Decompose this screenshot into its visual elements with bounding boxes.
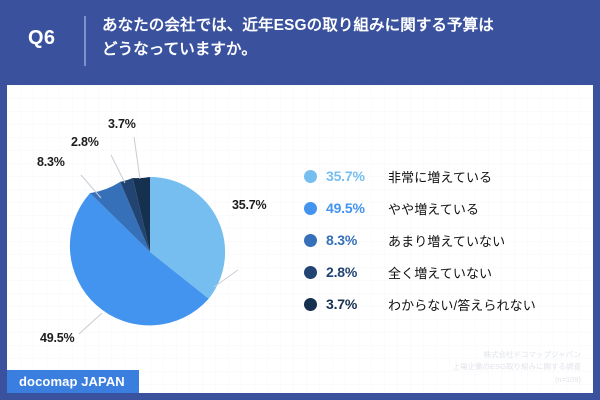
legend-item-4: 2.8% 全く増えていない <box>304 256 589 288</box>
leader-line-2 <box>79 313 102 334</box>
legend-dot-icon <box>304 170 317 183</box>
legend-item-3: 8.3% あまり増えていない <box>304 224 589 256</box>
legend-label: わからない/答えられない <box>388 295 536 314</box>
chart-card: 35.7% 49.5% 8.3% 2.8% 3.7% 35.7% 非常に増えてい… <box>7 85 593 393</box>
legend-percent: 49.5% <box>326 200 388 216</box>
page-title: あなたの会社では、近年ESGの取り組みに関する予算は どうなっていますか。 <box>86 14 586 62</box>
pie-chart-svg <box>7 85 307 393</box>
legend-percent: 8.3% <box>326 232 388 248</box>
pie-value-label-1: 35.7% <box>232 198 266 212</box>
legend-item-1: 35.7% 非常に増えている <box>304 160 589 192</box>
legend-label: あまり増えていない <box>388 231 505 250</box>
legend-item-5: 3.7% わからない/答えられない <box>304 288 589 320</box>
logo-label: docomap JAPAN <box>19 374 125 389</box>
docomap-logo: docomap JAPAN <box>7 370 139 393</box>
legend-label: 非常に増えている <box>388 167 492 186</box>
pie-value-label-3: 8.3% <box>37 155 65 169</box>
pie-value-label-4: 2.8% <box>71 135 99 149</box>
legend-percent: 35.7% <box>326 168 388 184</box>
legend-dot-icon <box>304 234 317 247</box>
slide-header: Q6 あなたの会社では、近年ESGの取り組みに関する予算は どうなっていますか。 <box>0 0 600 85</box>
pie-value-label-5: 3.7% <box>108 117 136 131</box>
source-sample-size: (n=109) <box>453 374 581 386</box>
question-line-1: あなたの会社では、近年ESGの取り組みに関する予算は <box>102 14 586 38</box>
legend-dot-icon <box>304 202 317 215</box>
legend-label: やや増えている <box>388 199 479 218</box>
legend-percent: 3.7% <box>326 296 388 312</box>
chart-legend: 35.7% 非常に増えている 49.5% やや増えている 8.3% あまり増えて… <box>304 160 589 320</box>
slide-root: Q6 あなたの会社では、近年ESGの取り組みに関する予算は どうなっていますか。 <box>0 0 600 400</box>
pie-value-label-2: 49.5% <box>40 331 74 345</box>
legend-item-2: 49.5% やや増えている <box>304 192 589 224</box>
legend-label: 全く増えていない <box>388 263 492 282</box>
source-note: 株式会社ドコマップジャパン 上場企業のESG取り組みに関する調査 (n=109) <box>453 349 581 386</box>
leader-line-5 <box>134 137 140 179</box>
legend-dot-icon <box>304 298 317 311</box>
legend-dot-icon <box>304 266 317 279</box>
question-line-2: どうなっていますか。 <box>102 38 586 62</box>
leader-line-4 <box>111 155 125 183</box>
pie-chart: 35.7% 49.5% 8.3% 2.8% 3.7% <box>7 85 307 393</box>
source-company: 株式会社ドコマップジャパン <box>453 349 581 361</box>
source-survey: 上場企業のESG取り組みに関する調査 <box>453 361 581 373</box>
legend-percent: 2.8% <box>326 264 388 280</box>
question-number: Q6 <box>28 14 84 48</box>
